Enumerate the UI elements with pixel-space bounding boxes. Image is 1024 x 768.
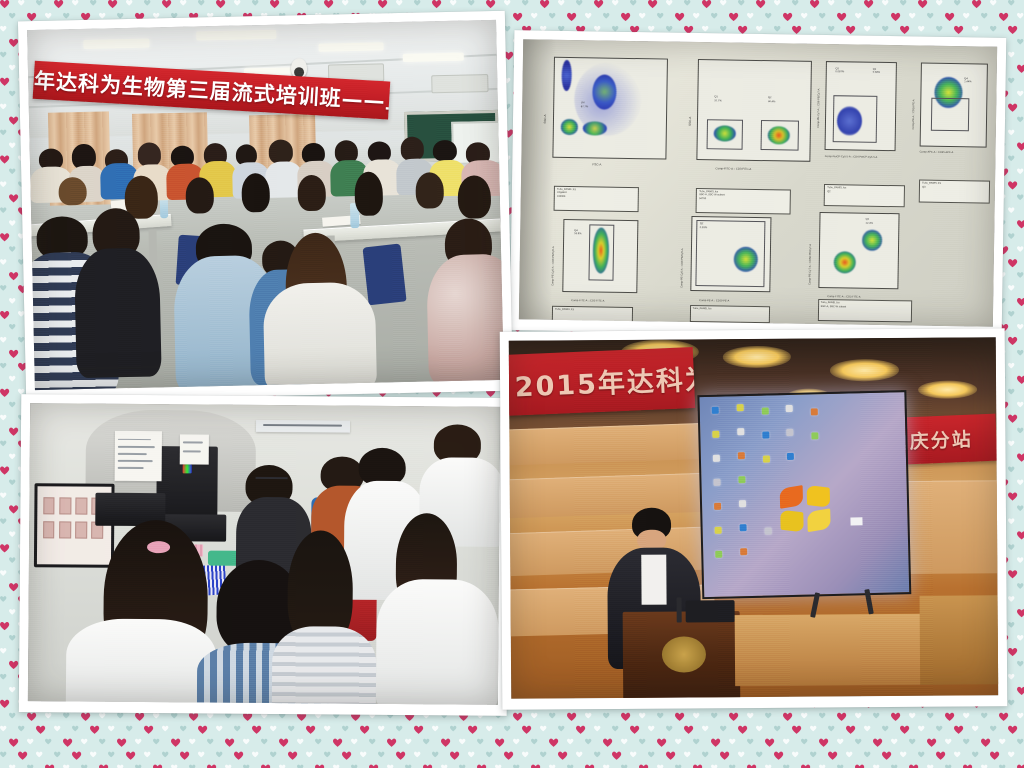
wall-panel bbox=[509, 473, 715, 519]
attendee-head bbox=[298, 175, 327, 212]
speaker-photo-image: 2015年达科为 班—重庆分站 bbox=[509, 337, 998, 698]
stage-table bbox=[920, 595, 999, 685]
y-axis-label: Comp-PE-Cy7-A :: CD8 PE/Cy7-A bbox=[818, 89, 821, 128]
attendee-head bbox=[457, 175, 491, 219]
posted-notice bbox=[180, 434, 208, 464]
gate-label: Q1 0.087% bbox=[835, 67, 844, 74]
lab-hands-on-demo-photo[interactable] bbox=[19, 394, 509, 716]
stage-table bbox=[735, 613, 930, 686]
cytometer-indicator bbox=[182, 464, 191, 473]
ceiling-light bbox=[723, 346, 791, 368]
gate-label: Q1 37.7% bbox=[714, 96, 721, 103]
gate-label: Q4 53.8% bbox=[574, 229, 581, 236]
event-banner-left: 2015年达科为 bbox=[509, 347, 696, 416]
gate-label: Q4 1.44% bbox=[964, 77, 971, 84]
attendee-head bbox=[185, 177, 214, 214]
plot-fsc-ssc: LM 87.7% bbox=[552, 57, 667, 160]
y-axis-label: SSC-A bbox=[544, 114, 547, 123]
hair-tie bbox=[147, 541, 171, 553]
attendee-body bbox=[426, 253, 504, 385]
plot-legend: Tubu_PANEL.fcs SSC-A, SSC-W subset bbox=[817, 299, 912, 323]
attendee-head bbox=[354, 172, 383, 216]
attendee-body bbox=[263, 282, 378, 390]
plot-cd45-cd16: Q4 1.44% bbox=[920, 62, 988, 147]
speaker-presentation-photo[interactable]: 2015年达科为 班—重庆分站 bbox=[500, 328, 1008, 710]
shelf-label bbox=[256, 420, 350, 433]
y-axis-label: Comp-PE-A :: CD16 PE-A bbox=[912, 99, 915, 129]
eyeglasses-icon bbox=[255, 476, 288, 478]
classroom-photo-image: 2015年达科为生物第三届流式培训班——上海站 bbox=[27, 20, 504, 390]
attendee-head bbox=[433, 140, 457, 162]
plot-cd8-pecy5: Q4 53.8% bbox=[562, 219, 639, 293]
plot-cd3-ssc: Q1 37.7% Q2 60.4% bbox=[697, 59, 812, 162]
plot-legend: Tubu_PANEL.fcs bbox=[552, 306, 633, 324]
y-axis-label: SSC-A bbox=[689, 117, 692, 126]
plot-legend: Tubu_PANEL.fcs SSC-A, SSC-W subset 94700 bbox=[696, 188, 791, 215]
plot-cd56: Q1 12.4% bbox=[818, 212, 900, 289]
gate-label: Q2 0.68% bbox=[873, 68, 880, 75]
attendee-head bbox=[400, 137, 424, 161]
lab-photo-image bbox=[28, 403, 500, 705]
flow-cytometry-printout-photo[interactable]: LM 87.7% SSC-A FSC-A Tubu_PANEL.fcs Unga… bbox=[510, 30, 1007, 338]
attendee-head bbox=[269, 140, 293, 164]
ceiling-light bbox=[84, 38, 150, 49]
plot-cd4-cd8: Q1 0.087% Q2 0.68% bbox=[825, 61, 897, 152]
x-axis-label: FSC-A bbox=[592, 164, 601, 167]
x-axis-label: Comp-PE-A :: CD19 PE-A bbox=[699, 300, 729, 303]
event-banner-left-text: 2015年达科为 bbox=[514, 357, 695, 404]
plot-legend: Tubu_PANEL.fcs bbox=[689, 305, 770, 323]
laptop bbox=[686, 600, 735, 622]
projection-screen bbox=[697, 390, 911, 599]
ceiling-light bbox=[918, 380, 977, 398]
attendee-head bbox=[137, 142, 161, 166]
chair bbox=[362, 244, 406, 305]
cytometry-photo-image: LM 87.7% SSC-A FSC-A Tubu_PANEL.fcs Unga… bbox=[519, 39, 997, 326]
wall-panel bbox=[899, 480, 998, 574]
ceiling-light bbox=[196, 30, 276, 40]
classroom-lecture-photo[interactable]: 2015年达科为生物第三届流式培训班——上海站 bbox=[18, 11, 513, 402]
microphone bbox=[676, 597, 682, 622]
trainee-body bbox=[272, 626, 376, 705]
plot-legend: Tubu_PANEL.fcs Ungated 100000 bbox=[554, 185, 640, 212]
plot-cd19: Q2 0.93% bbox=[690, 216, 772, 293]
gate-label: Q1 12.4% bbox=[866, 218, 873, 225]
desktop-dialog bbox=[850, 517, 863, 525]
lab-coat bbox=[376, 579, 499, 705]
plot-legend: Tubu_PANEL.fcs Q3 bbox=[919, 180, 990, 204]
wall-panel bbox=[509, 422, 725, 465]
air-conditioner bbox=[432, 74, 489, 93]
ceiling-light bbox=[830, 359, 898, 381]
x-axis-label: Comp-APC-A :: CD45 APC-A bbox=[920, 152, 954, 155]
lab-coat bbox=[65, 618, 216, 705]
posted-notice bbox=[114, 431, 161, 482]
attendee-head bbox=[58, 176, 87, 205]
x-axis-label: Comp-FITC-A :: CD3 FITC-A bbox=[571, 300, 604, 303]
attendee-body bbox=[74, 247, 161, 378]
podium-emblem bbox=[662, 636, 706, 672]
gate-label: LM 87.7% bbox=[581, 101, 588, 108]
speaker-shirt bbox=[642, 554, 667, 604]
x-axis-label: Comp-FITC-A :: CD3 FITC-A bbox=[716, 167, 752, 170]
plot-legend: Tubu_PANEL.fcs Q2 bbox=[824, 184, 905, 208]
gate-label: Q2 0.93% bbox=[700, 223, 707, 230]
collage-canvas: 2015年达科为生物第三届流式培训班——上海站 bbox=[0, 0, 1024, 768]
windows-logo-icon bbox=[780, 486, 830, 531]
attendee-head bbox=[415, 172, 444, 209]
gate-label: Q2 60.4% bbox=[768, 97, 775, 104]
